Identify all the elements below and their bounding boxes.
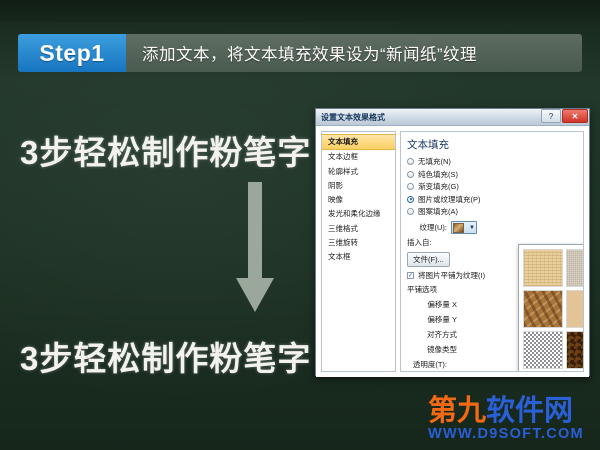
radio-icon: [407, 183, 414, 190]
texture-swatch-canvas[interactable]: [566, 249, 584, 287]
texture-preview-swatch: [453, 223, 464, 233]
sidebar-item-reflection[interactable]: 映像: [322, 193, 395, 207]
pane-title: 文本填充: [407, 137, 577, 152]
sidebar-item-3d-rotation[interactable]: 三维旋转: [322, 236, 395, 250]
offset-y-label: 偏移量 Y: [407, 314, 461, 325]
close-icon[interactable]: ✕: [562, 109, 588, 123]
dialog-body: 文本填充 文本边框 轮廓样式 阴影 映像 发光和柔化边缘 三维格式 三维旋转 文…: [316, 126, 589, 377]
chevron-down-icon: ▼: [469, 225, 475, 231]
radio-icon: [407, 208, 414, 215]
tile-as-texture-label: 将图片平铺为纹理(I): [418, 270, 485, 281]
texture-gallery-popup[interactable]: [518, 244, 584, 372]
watermark-cn-part1: 第九: [428, 395, 486, 427]
radio-icon-selected: [407, 196, 414, 203]
chalk-heading-before: 3步轻松制作粉笔字: [20, 126, 311, 174]
sidebar-item-shadow[interactable]: 阴影: [322, 179, 395, 193]
watermark-chinese: 第九软件网: [428, 396, 594, 426]
texture-swatch-paper-bag[interactable]: [523, 290, 563, 328]
watermark-cn-part2: 软件网: [486, 395, 573, 427]
sidebar-item-text-border[interactable]: 文本边框: [322, 150, 395, 164]
watermark-url: WWW.D9SOFT.COM: [428, 426, 594, 442]
radio-label: 图片或纹理填充(P): [418, 194, 481, 205]
texture-label: 纹理(U):: [407, 222, 451, 233]
transparency-label: 透明度(T):: [407, 359, 451, 370]
chalk-heading-after: 3步轻松制作粉笔字: [20, 332, 311, 380]
site-watermark: 第九软件网 WWW.D9SOFT.COM: [428, 396, 594, 444]
file-button[interactable]: 文件(F)...: [407, 252, 450, 267]
radio-label: 纯色填充(S): [418, 169, 458, 180]
texture-swatch-fish-fossil[interactable]: [566, 290, 584, 328]
down-arrow-icon: [233, 182, 277, 320]
sidebar-item-3d-format[interactable]: 三维格式: [322, 222, 395, 236]
step-badge: Step1: [18, 34, 126, 72]
sidebar-item-glow-soft-edge[interactable]: 发光和柔化边缘: [322, 207, 395, 221]
checkbox-checked-icon: ✓: [407, 272, 414, 279]
step-instruction: 添加文本，将文本填充效果设为“新闻纸”纹理: [126, 34, 582, 72]
radio-no-fill[interactable]: 无填充(N): [407, 156, 577, 167]
board-top-strip: [0, 0, 600, 22]
step-banner: Step1 添加文本，将文本填充效果设为“新闻纸”纹理: [18, 34, 582, 72]
radio-solid-fill[interactable]: 纯色填充(S): [407, 169, 577, 180]
mirror-label: 镜像类型: [407, 344, 461, 355]
texture-swatch-white-marble[interactable]: [523, 331, 563, 369]
radio-label: 无填充(N): [418, 156, 451, 167]
texture-row: 纹理(U): ▼: [407, 221, 577, 234]
offset-x-label: 偏移量 X: [407, 299, 461, 310]
dialog-title: 设置文本效果格式: [321, 112, 385, 123]
sidebar-item-text-fill[interactable]: 文本填充: [322, 134, 395, 150]
format-text-effects-dialog: 设置文本效果格式 ? ✕ 文本填充 文本边框 轮廓样式 阴影 映像 发光和柔化边…: [315, 108, 590, 376]
radio-label: 渐变填充(G): [418, 181, 459, 192]
texture-swatch-brown-marble[interactable]: [566, 331, 584, 369]
radio-icon: [407, 171, 414, 178]
window-buttons: ? ✕: [540, 109, 588, 124]
radio-label: 图案填充(A): [418, 206, 458, 217]
radio-icon: [407, 158, 414, 165]
dialog-titlebar[interactable]: 设置文本效果格式 ? ✕: [316, 109, 589, 126]
texture-swatch-papyrus[interactable]: [523, 249, 563, 287]
radio-gradient-fill[interactable]: 渐变填充(G): [407, 181, 577, 192]
texture-dropdown-button[interactable]: ▼: [451, 221, 477, 234]
sidebar-item-text-box[interactable]: 文本框: [322, 250, 395, 264]
radio-picture-texture-fill[interactable]: 图片或纹理填充(P): [407, 194, 577, 205]
radio-pattern-fill[interactable]: 图案填充(A): [407, 206, 577, 217]
text-fill-pane: 文本填充 无填充(N) 纯色填充(S) 渐变填充(G) 图片或纹理填充(P) 图…: [400, 131, 584, 372]
align-label: 对齐方式: [407, 329, 461, 340]
help-icon[interactable]: ?: [541, 109, 561, 123]
sidebar-item-outline-style[interactable]: 轮廓样式: [322, 165, 395, 179]
dialog-category-list[interactable]: 文本填充 文本边框 轮廓样式 阴影 映像 发光和柔化边缘 三维格式 三维旋转 文…: [321, 131, 396, 372]
